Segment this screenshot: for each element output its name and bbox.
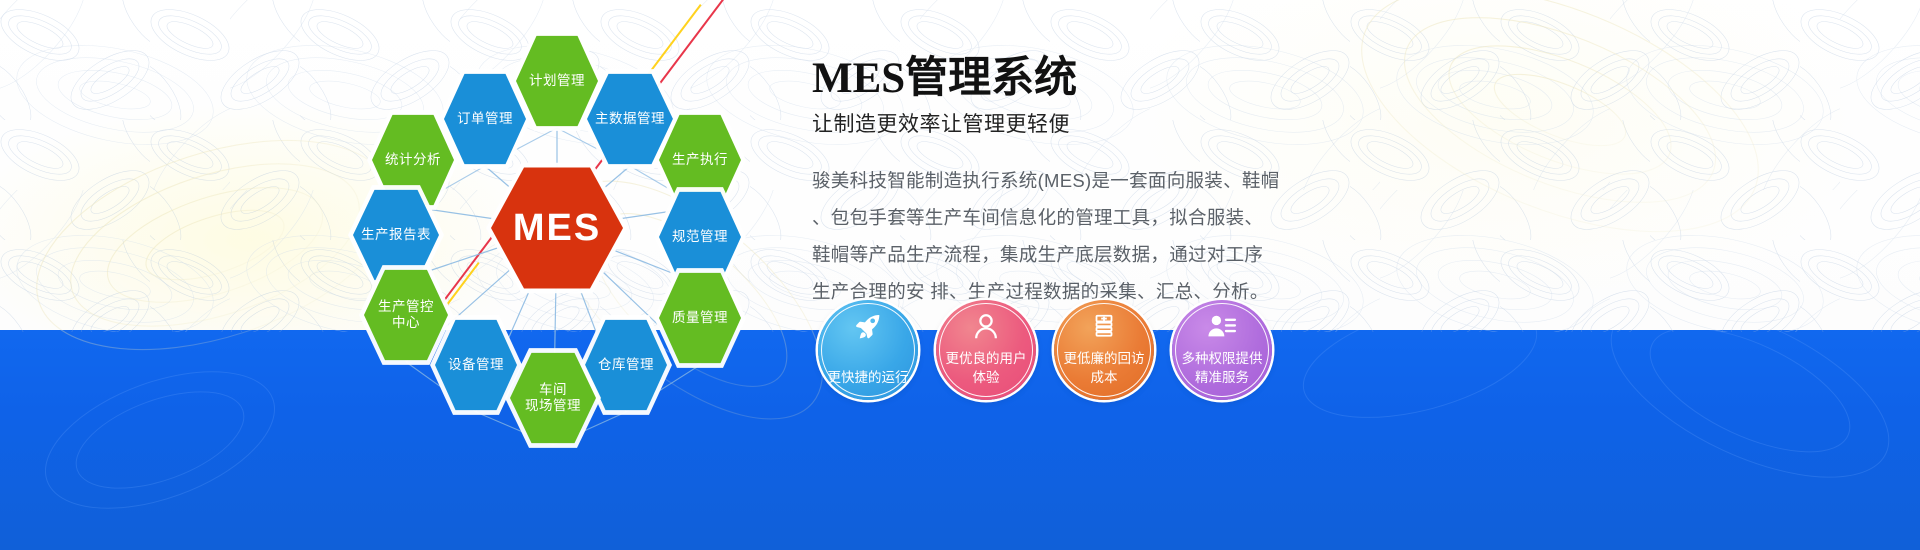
badge-caption-line: 成本 [1058,368,1150,387]
hexagon-node-label: 统计分析 [378,152,448,168]
banner-copy: MES管理系统 让制造更效率让管理更轻便 骏美科技智能制造执行系统(MES)是一… [812,56,1452,310]
badge-caption: 更低廉的回访成本 [1058,349,1150,387]
hexagon-node-label: 仓库管理 [591,357,661,373]
hexagon-node-label: 生产执行 [665,152,735,168]
feature-badge[interactable]: 更低廉的回访成本 [1054,300,1154,400]
description-line: 鞋帽等产品生产流程，集成生产底层数据，通过对工序 [812,236,1262,273]
page-title: MES管理系统 [812,56,1452,102]
description-line: 、包包手套等生产车间信息化的管理工具，拟合服装、 [812,199,1262,236]
hexagon-node-label: 计划管理 [522,73,592,89]
feature-badge[interactable]: 多种权限提供精准服务 [1172,300,1272,400]
badge-caption: 更优良的用户体验 [940,349,1032,387]
user-icon [936,312,1036,342]
hexagon-node-label: 设备管理 [441,357,511,373]
description-line: 骏美科技智能制造执行系统(MES)是一套面向服装、鞋帽 [812,162,1262,199]
badge-caption-line: 体验 [940,368,1032,387]
hexagon-node-label: 车间现场管理 [516,382,590,414]
page-subtitle: 让制造更效率让管理更轻便 [812,108,1452,138]
hexagon-node-label: 规范管理 [665,229,735,245]
badge-caption-line: 更优良的用户 [940,349,1032,368]
badge-caption: 多种权限提供精准服务 [1176,349,1268,387]
hexagon-node-label: 主数据管理 [593,111,667,127]
user-list-icon [1172,312,1272,342]
badge-caption-line: 多种权限提供 [1176,349,1268,368]
coins-icon [1054,312,1154,342]
hexagon-node-label: 质量管理 [665,310,735,326]
feature-badge[interactable]: 更优良的用户体验 [936,300,1036,400]
page-description: 骏美科技智能制造执行系统(MES)是一套面向服装、鞋帽、包包手套等生产车间信息化… [812,162,1262,310]
hexagon-node-label: 生产管控中心 [370,299,442,331]
feature-badge-row: 更快捷的运行更优良的用户体验更低廉的回访成本多种权限提供精准服务 [818,300,1272,400]
center-hexagon-label: MES [497,206,617,251]
banner-stage: MES 计划管理订单管理主数据管理统计分析生产执行生产报告表规范管理生产管控中心… [0,0,1920,550]
feature-badge[interactable]: 更快捷的运行 [818,300,918,400]
badge-caption-line: 更快捷的运行 [822,368,914,387]
badge-caption-line: 精准服务 [1176,368,1268,387]
hexagon-node-label: 生产报告表 [359,227,433,243]
rocket-icon [818,312,918,342]
badge-caption: 更快捷的运行 [822,368,914,387]
mes-hexagon-diagram: MES 计划管理订单管理主数据管理统计分析生产执行生产报告表规范管理生产管控中心… [0,0,820,460]
hexagon-node-label: 订单管理 [450,111,520,127]
badge-caption-line: 更低廉的回访 [1058,349,1150,368]
